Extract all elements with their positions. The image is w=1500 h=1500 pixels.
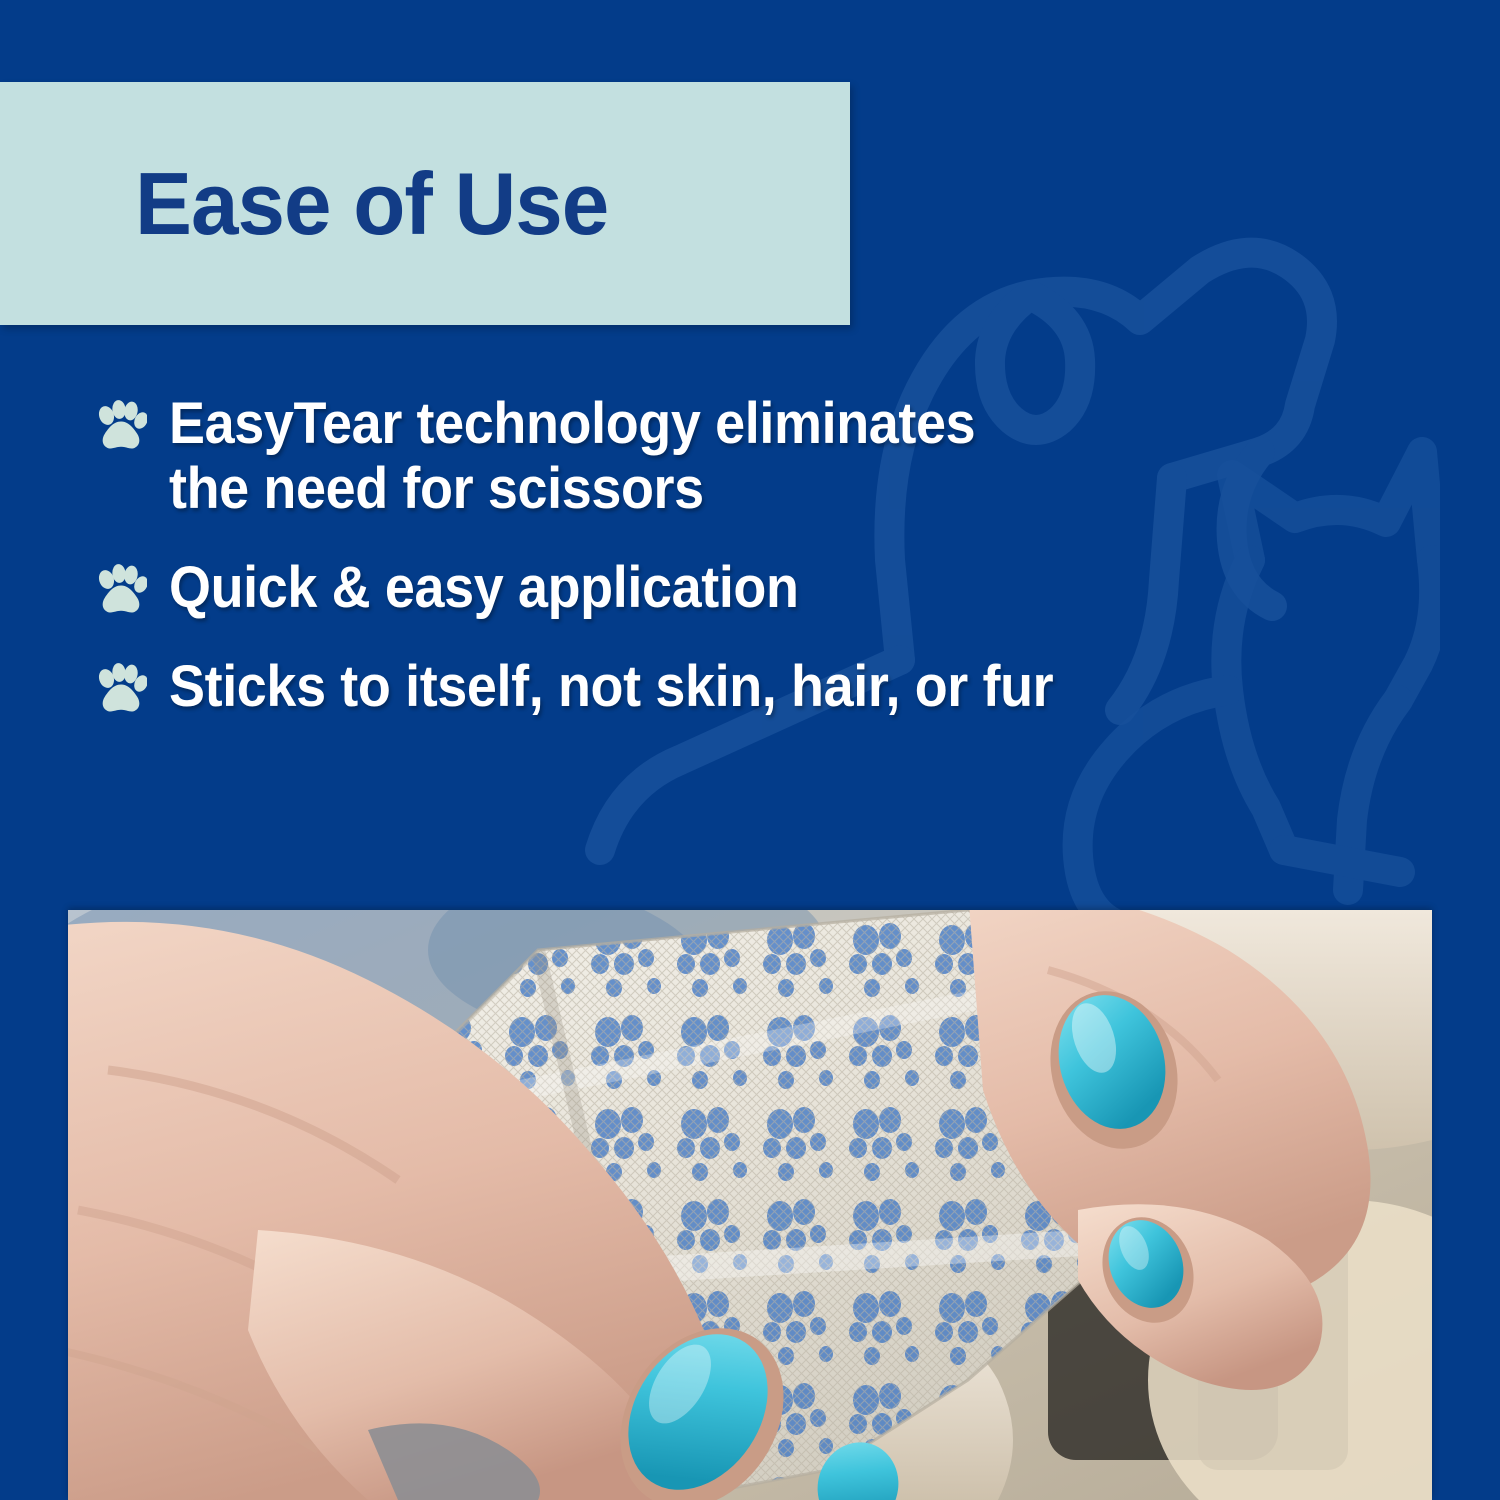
list-item-label: EasyTear technology eliminates the need … (169, 392, 975, 522)
list-item: Sticks to itself, not skin, hair, or fur (95, 655, 1435, 720)
list-item-label: Sticks to itself, not skin, hair, or fur (169, 655, 1053, 720)
list-item: Quick & easy application (95, 556, 1435, 621)
feature-bullet-list: EasyTear technology eliminates the need … (95, 392, 1435, 754)
list-item-label: Quick & easy application (169, 556, 799, 621)
page-title-banner: Ease of Use (0, 82, 850, 325)
hands-tearing-paw-print-bandage-photo (68, 910, 1432, 1500)
page-title: Ease of Use (135, 160, 608, 248)
paw-print-icon (95, 400, 147, 454)
paw-print-icon (95, 564, 147, 618)
list-item: EasyTear technology eliminates the need … (95, 392, 1435, 522)
paw-print-icon (95, 663, 147, 717)
ease-of-use-infographic: Ease of Use EasyTear technology eliminat… (0, 0, 1500, 1500)
